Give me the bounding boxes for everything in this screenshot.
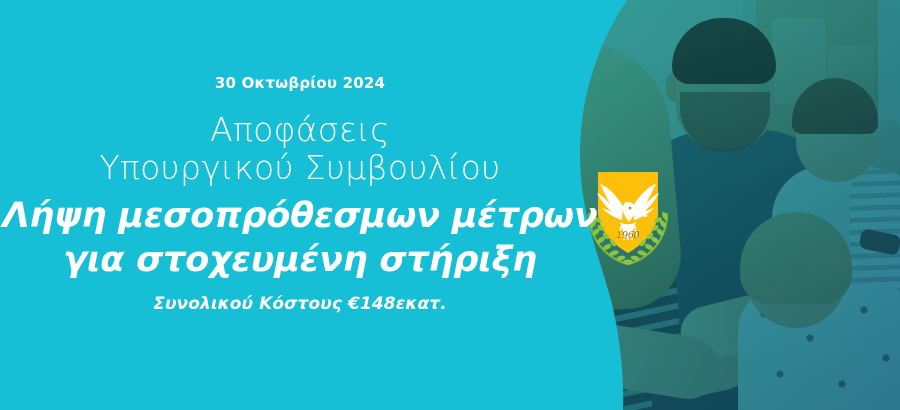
page-title: Αποφάσεις Υπουργικού Συμβουλίου (0, 111, 600, 187)
total-cost-label: Συνολικού Κόστους €148εκατ. (0, 294, 600, 314)
headline-block: 30 Οκτωβρίου 2024 Αποφάσεις Υπουργικού Σ… (0, 0, 600, 410)
page-title-line-2: Υπουργικού Συμβουλίου (0, 149, 600, 187)
svg-text:1960: 1960 (617, 231, 640, 241)
announcement-date: 30 Οκτωβρίου 2024 (0, 74, 600, 92)
page-subtitle-line-1: Λήψη μεσοπρόθεσμων μέτρων (0, 194, 600, 238)
page-title-line-1: Αποφάσεις (0, 111, 600, 149)
page-subtitle: Λήψη μεσοπρόθεσμων μέτρων για στοχευμένη… (0, 194, 600, 282)
announcement-banner: 1960 (0, 0, 900, 410)
page-subtitle-line-2: για στοχευμένη στήριξη (0, 238, 600, 282)
